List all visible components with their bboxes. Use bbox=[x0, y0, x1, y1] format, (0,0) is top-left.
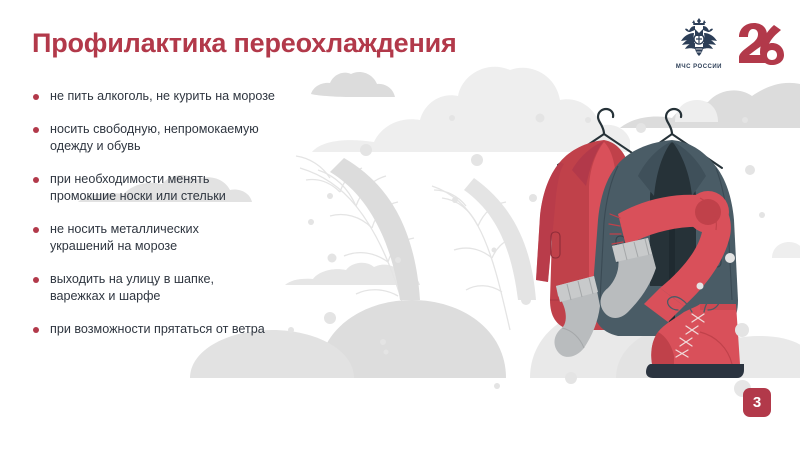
bullet-dot-icon bbox=[33, 227, 39, 233]
list-item: не пить алкоголь, не курить на морозе bbox=[33, 88, 333, 105]
page-title: Профилактика переохлаждения bbox=[32, 28, 457, 59]
page-number-value: 3 bbox=[743, 388, 771, 417]
slide: Профилактика переохлаждения bbox=[0, 0, 800, 452]
recommendations-list: не пить алкоголь, не курить на морозе но… bbox=[33, 88, 333, 338]
bullet-dot-icon bbox=[33, 127, 39, 133]
list-item: при возможности прятаться от ветра bbox=[33, 321, 333, 338]
list-item: не носить металлических украшений на мор… bbox=[33, 221, 333, 255]
list-item-text: выходить на улицу в шапке, варежках и ша… bbox=[50, 271, 214, 305]
list-item-text: не пить алкоголь, не курить на морозе bbox=[50, 88, 275, 105]
list-item-text: носить свободную, непромокаемую одежду и… bbox=[50, 121, 259, 155]
region-26-logo bbox=[736, 21, 784, 65]
bullet-dot-icon bbox=[33, 94, 39, 100]
bullet-dot-icon bbox=[33, 327, 39, 333]
emercom-caption: МЧС РОССИИ bbox=[676, 64, 722, 70]
list-item: выходить на улицу в шапке, варежках и ша… bbox=[33, 271, 333, 305]
list-item-text: при необходимости менять промокшие носки… bbox=[50, 171, 226, 205]
bullet-dot-icon bbox=[33, 277, 39, 283]
list-item-text: не носить металлических украшений на мор… bbox=[50, 221, 199, 255]
list-item: при необходимости менять промокшие носки… bbox=[33, 171, 333, 205]
logo-block: МЧС РОССИИ bbox=[676, 16, 784, 70]
list-item: носить свободную, непромокаемую одежду и… bbox=[33, 121, 333, 155]
bullet-dot-icon bbox=[33, 177, 39, 183]
list-item-text: при возможности прятаться от ветра bbox=[50, 321, 265, 338]
emercom-logo: МЧС РОССИИ bbox=[676, 16, 722, 70]
page-number-badge: 3 bbox=[734, 380, 778, 424]
double-headed-eagle-emblem bbox=[677, 16, 721, 62]
